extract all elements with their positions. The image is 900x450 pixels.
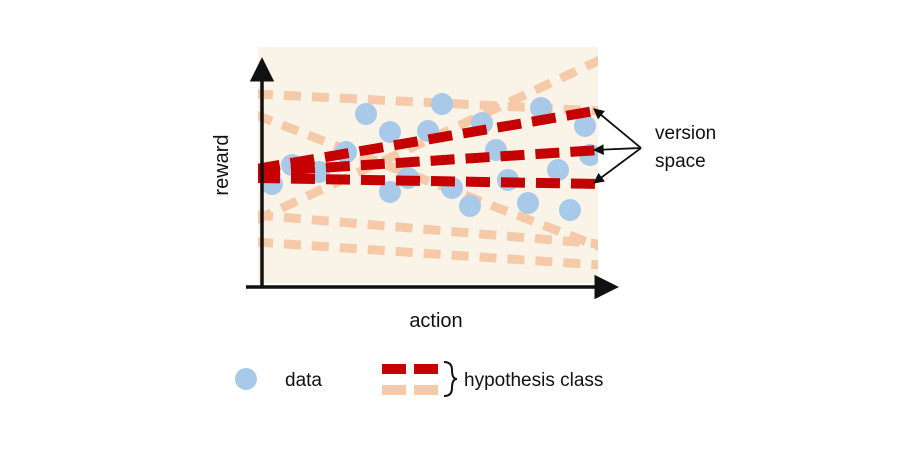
legend-curly-brace — [444, 362, 457, 396]
version-space-arrow-top — [594, 109, 641, 148]
data-point — [355, 103, 377, 125]
version-space-arrow-middle — [594, 148, 641, 150]
data-point — [547, 159, 569, 181]
legend: data hypothesis class — [235, 362, 603, 396]
x-axis-label: action — [409, 310, 462, 332]
figure-canvas: reward action version space data hypothe… — [0, 0, 900, 450]
legend-hypothesis-label: hypothesis class — [464, 370, 603, 391]
data-point — [431, 93, 453, 115]
y-axis-label: reward — [211, 134, 233, 195]
version-space-label-line2: space — [655, 151, 706, 172]
data-point — [517, 192, 539, 214]
version-space-annotation-arrows — [594, 109, 641, 183]
legend-data-swatch — [235, 368, 257, 390]
version-space-label-line1: version — [655, 123, 716, 144]
version-space-arrow-bottom — [594, 148, 641, 183]
legend-hypothesis-swatches — [382, 362, 457, 396]
data-point — [559, 199, 581, 221]
legend-data-label: data — [285, 370, 322, 391]
data-point — [459, 195, 481, 217]
